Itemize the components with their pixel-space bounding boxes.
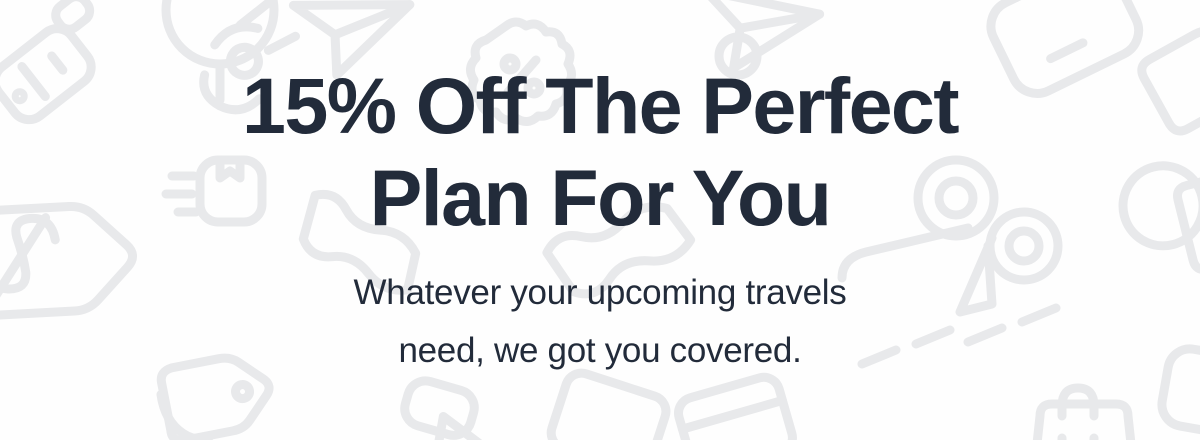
banner-content: 15% Off The Perfect Plan For You Whateve…: [0, 0, 1200, 440]
banner-heading: 15% Off The Perfect Plan For You: [150, 60, 1050, 244]
banner-subheading: Whatever your upcoming travels need, we …: [220, 264, 980, 380]
promo-banner: 15% Off The Perfect Plan For You Whateve…: [0, 0, 1200, 440]
